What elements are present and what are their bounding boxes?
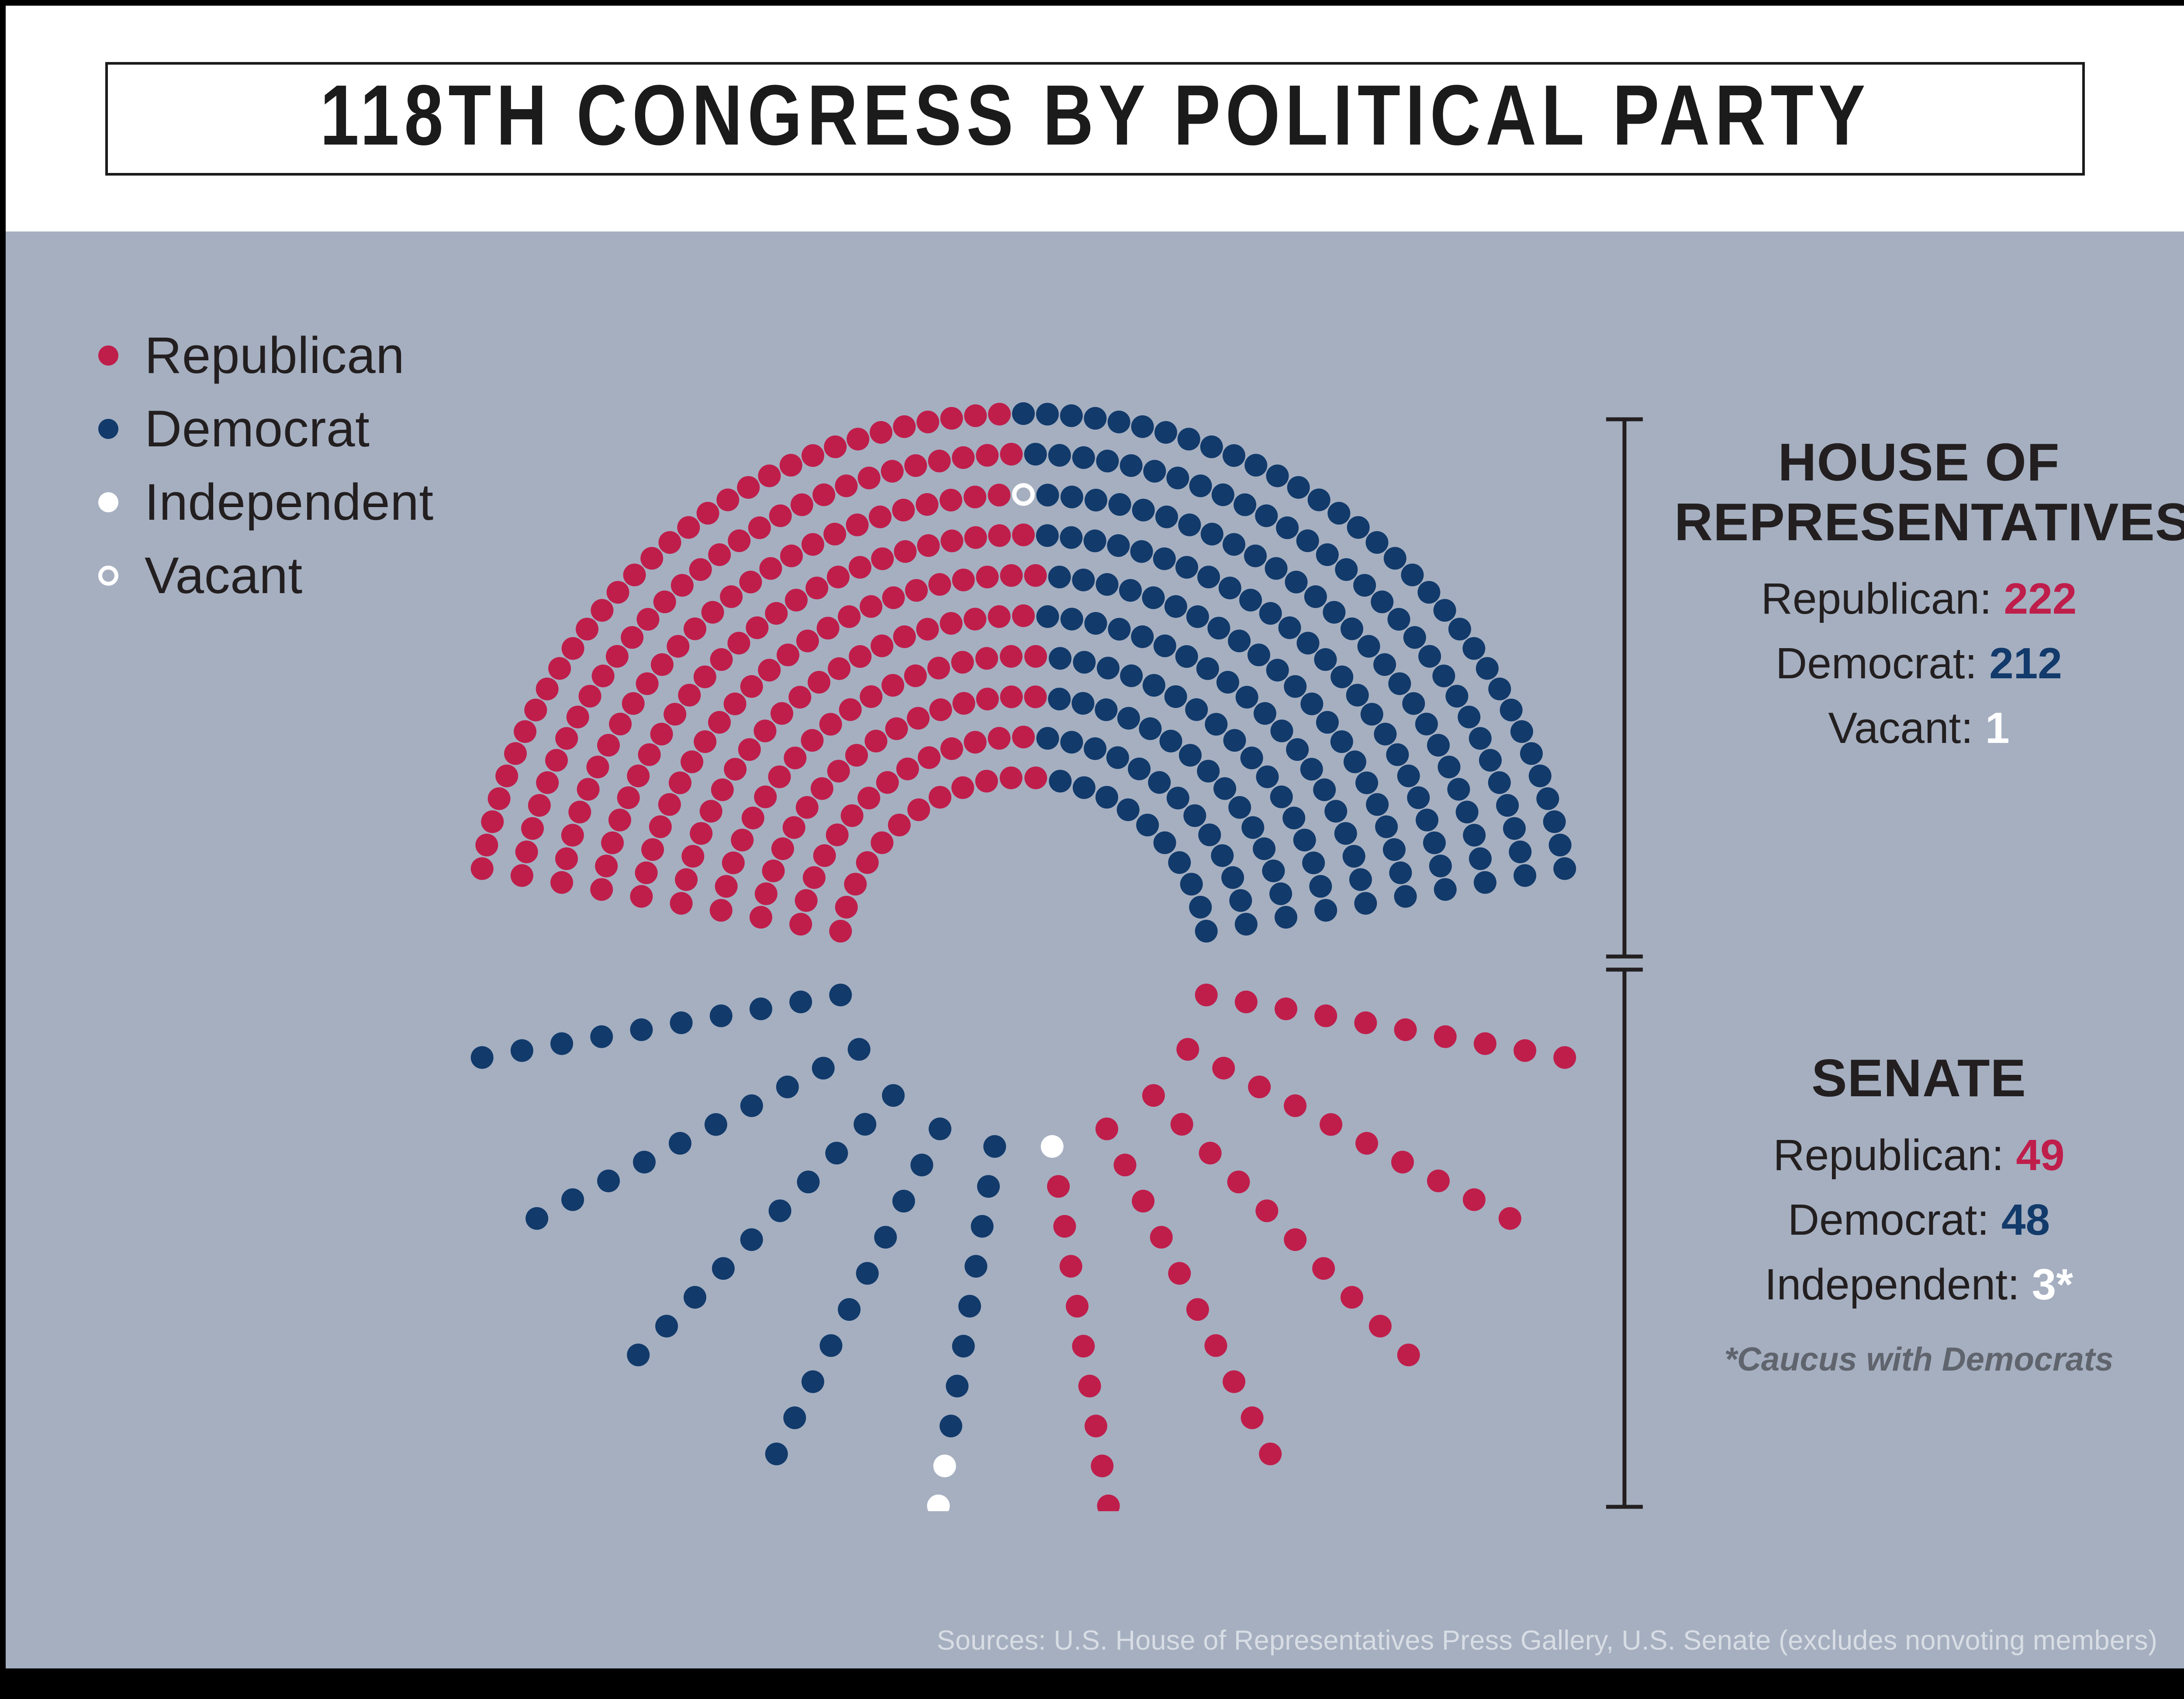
house-seat-republican [1012, 524, 1035, 546]
house-seat-republican [771, 702, 793, 725]
house-seat-republican [951, 776, 974, 799]
house-seat-republican [802, 533, 824, 556]
house-seat-democrat [1456, 801, 1479, 823]
house-seat-democrat [1239, 589, 1262, 611]
house-seat-republican [765, 602, 788, 625]
house-seat-republican [826, 824, 849, 846]
house-seat-democrat [1048, 687, 1071, 710]
house-seat-republican [789, 913, 812, 936]
house-seat-republican [579, 685, 601, 708]
house-seat-democrat [1469, 727, 1492, 750]
house-seat-republican [952, 569, 975, 591]
house-seat-democrat [1155, 505, 1178, 528]
house-seat-democrat [1334, 822, 1357, 845]
senate-seat-independent [1041, 1135, 1064, 1158]
house-seat-democrat [1520, 742, 1543, 765]
house-seat-republican [893, 625, 916, 648]
house-seat-republican [796, 629, 819, 652]
house-seat-democrat [1212, 483, 1234, 506]
house-seat-democrat [1120, 664, 1143, 687]
house-seat-republican [659, 531, 681, 554]
house-seat-democrat [1096, 573, 1119, 596]
house-seat-democrat [1148, 771, 1171, 794]
senate-seat-republican [1320, 1113, 1342, 1136]
house-seat-democrat [1223, 533, 1245, 556]
house-seat-republican [758, 659, 781, 681]
house-seat-republican [684, 618, 706, 640]
senate-seat-republican [1199, 1142, 1222, 1164]
senate-seat-republican [1085, 1415, 1107, 1437]
house-seat-republican [1024, 645, 1047, 668]
senate-seat-republican [1312, 1257, 1335, 1280]
senate-seat-republican [1355, 1132, 1378, 1155]
house-seat-republican [681, 750, 703, 773]
senate-seat-democrat [854, 1113, 876, 1136]
democrat-dot-icon [98, 419, 118, 439]
house-seat-republican [864, 730, 887, 753]
house-seat-democrat [1500, 699, 1523, 722]
house-seat-democrat [1266, 659, 1289, 681]
house-seat-democrat [1269, 882, 1292, 905]
house-seat-republican [1024, 686, 1047, 708]
house-seat-democrat [1143, 674, 1165, 697]
house-seat-republican [607, 581, 629, 604]
house-seat-republican [748, 516, 771, 539]
house-seat-republican [811, 777, 833, 800]
house-seat-democrat [1509, 840, 1531, 863]
house-seat-democrat [1343, 845, 1365, 867]
house-seat-republican [702, 601, 724, 624]
house-seat-democrat [1165, 595, 1187, 618]
house-seat-republican [630, 885, 653, 908]
house-seat-republican [856, 851, 879, 874]
house-seat-democrat [1095, 786, 1118, 808]
house-seat-republican [988, 524, 1011, 547]
house-seat-republican [708, 711, 731, 734]
house-seat-republican [658, 793, 681, 816]
house-seat-democrat [1253, 837, 1275, 860]
senate-seat-democrat [712, 1257, 735, 1280]
house-seat-republican [524, 699, 547, 722]
house-seat-republican [724, 693, 746, 715]
house-stat-democrat-value: 212 [1989, 639, 2062, 688]
house-seat-republican [964, 404, 987, 427]
house-seat-republican [1024, 564, 1047, 587]
senate-seat-republican [1053, 1215, 1076, 1238]
senate-seat-democrat [769, 1199, 791, 1222]
house-seat-republican [976, 444, 999, 467]
house-seat-democrat [1330, 730, 1353, 753]
senate-seat-democrat [630, 1019, 653, 1041]
house-seat-democrat [1304, 585, 1327, 608]
house-seat-democrat [1060, 404, 1083, 427]
house-seat-democrat [1302, 852, 1325, 874]
senate-seat-republican [1066, 1295, 1089, 1318]
house-seat-republican [964, 526, 987, 549]
house-seat-democrat [1198, 824, 1221, 846]
senate-seat-democrat [740, 1095, 763, 1117]
house-seat-democrat [1073, 651, 1095, 673]
house-seat-republican [595, 855, 618, 877]
senate-seat-republican [1463, 1188, 1486, 1211]
house-seat-democrat [1344, 750, 1366, 773]
house-seat-republican [827, 760, 850, 783]
house-seat-republican [769, 504, 792, 527]
legend-item-republican: Republican [98, 319, 434, 392]
house-seat-republican [1000, 686, 1023, 708]
house-seat-republican [708, 543, 731, 566]
house-seat-republican [528, 794, 551, 817]
house-seat-democrat [1300, 693, 1323, 715]
vacant-dot-outline-icon [98, 566, 118, 586]
house-seat-republican [784, 746, 806, 769]
house-seat-democrat [1201, 523, 1223, 546]
house-seat-democrat [1241, 816, 1264, 839]
house-seat-democrat [1178, 428, 1200, 450]
house-seat-democrat [1275, 906, 1297, 929]
house-seat-democrat [1084, 529, 1106, 552]
house-seat-democrat [1256, 766, 1279, 788]
senate-stat-independent: Independent: 3* [1674, 1252, 2163, 1317]
house-seat-democrat [1037, 484, 1059, 507]
house-seat-democrat [1223, 444, 1245, 467]
house-seat-republican [637, 608, 660, 631]
house-seat-democrat [1037, 605, 1059, 628]
house-seat-democrat [1297, 632, 1320, 655]
house-seat-democrat [1389, 861, 1412, 884]
senate-seat-democrat [946, 1375, 968, 1398]
house-seat-republican [576, 618, 598, 640]
house-stat-vacant-label: Vacant: [1828, 704, 1973, 753]
house-seat-democrat [1189, 474, 1212, 497]
senate-seat-republican [1060, 1255, 1082, 1278]
house-seat-democrat [1418, 645, 1441, 668]
house-seat-democrat [1143, 460, 1166, 483]
house-seat-democrat [1186, 605, 1209, 628]
house-seat-democrat [1244, 454, 1267, 477]
senate-seat-democrat [511, 1039, 533, 1062]
house-seat-republican [857, 787, 880, 809]
senate-seat-republican [1314, 1005, 1337, 1027]
house-seat-republican [812, 483, 835, 506]
house-seat-republican [754, 786, 777, 808]
house-seat-democrat [1279, 616, 1301, 639]
house-seat-republican [678, 684, 701, 707]
house-seat-democrat [1189, 896, 1212, 919]
house-seat-democrat [1514, 864, 1536, 887]
house-seat-democrat [1117, 798, 1140, 821]
house-seat-republican [876, 771, 899, 794]
house-seat-republican [777, 644, 799, 666]
house-seat-democrat [1287, 476, 1310, 499]
house-seat-republican [759, 557, 782, 580]
house-seat-republican [927, 657, 950, 680]
house-seat-republican [1012, 604, 1035, 627]
house-seat-republican [663, 703, 686, 725]
house-seat-democrat [1221, 866, 1244, 889]
senate-seat-republican [1097, 1495, 1120, 1511]
house-seat-democrat [1049, 770, 1071, 792]
house-seat-republican [783, 816, 805, 839]
house-chamber-title: HOUSE OF REPRESENTATIVES [1674, 432, 2163, 552]
house-seat-democrat [1061, 608, 1083, 631]
senate-stat-republican: Republican: 49 [1674, 1123, 2163, 1188]
house-seat-democrat [1271, 720, 1293, 742]
house-seat-republican [536, 771, 559, 794]
house-seat-republican [835, 896, 858, 919]
house-seat-republican [567, 706, 589, 729]
senate-seat-republican [1391, 1151, 1414, 1174]
house-seat-democrat [1327, 502, 1350, 525]
house-seat-republican [471, 857, 494, 880]
house-seat-democrat [1142, 587, 1165, 609]
house-seat-democrat [1139, 717, 1161, 740]
house-seat-democrat [1195, 920, 1218, 943]
republican-dot-icon [98, 345, 118, 366]
house-seat-republican [649, 815, 672, 838]
house-seat-republican [953, 692, 975, 715]
house-seat-republican [827, 566, 850, 588]
house-seat-republican [606, 645, 629, 668]
house-seat-republican [710, 899, 733, 922]
senate-seat-democrat [710, 1005, 733, 1027]
house-seat-democrat [1458, 706, 1480, 729]
house-seat-democrat [1211, 844, 1234, 867]
senate-seat-democrat [856, 1262, 879, 1285]
house-seat-republican [640, 547, 663, 570]
house-seat-republican [871, 831, 893, 854]
house-seat-republican [1000, 645, 1023, 668]
house-title-line-1: HOUSE OF [1674, 432, 2163, 492]
house-seat-republican [838, 605, 860, 628]
house-stat-republican-label: Republican: [1761, 574, 1992, 623]
senate-seat-democrat [684, 1286, 706, 1309]
house-seat-democrat [1543, 810, 1566, 833]
house-seat-democrat [1012, 402, 1035, 425]
house-seat-republican [905, 579, 928, 602]
house-seat-democrat [1085, 489, 1107, 511]
senate-stat-republican-value: 49 [2016, 1131, 2064, 1180]
house-seat-democrat [1197, 566, 1220, 588]
senate-seat-democrat [789, 991, 812, 1013]
house-seat-democrat [1438, 756, 1460, 778]
house-seat-democrat [1462, 637, 1485, 660]
house-seat-republican [823, 523, 846, 546]
house-seat-democrat [1196, 657, 1219, 680]
senate-seat-republican [1255, 1199, 1278, 1222]
house-seat-republican [601, 832, 624, 854]
house-seat-democrat [1434, 599, 1456, 622]
house-seat-republican [514, 720, 536, 743]
house-seat-republican [940, 407, 963, 430]
house-seat-democrat [1401, 563, 1424, 586]
house-seat-democrat [1131, 415, 1154, 438]
house-seat-republican [802, 444, 824, 467]
house-seat-republican [651, 653, 674, 676]
house-seat-republican [608, 809, 631, 832]
house-seat-republican [750, 906, 772, 929]
house-seat-republican [653, 591, 676, 613]
house-seat-republican [617, 786, 640, 809]
senate-seat-democrat [882, 1084, 905, 1107]
house-seat-republican [841, 804, 864, 827]
house-seat-democrat [1503, 817, 1526, 840]
house-seat-republican [896, 757, 919, 780]
senate-seat-republican [1227, 1171, 1250, 1193]
house-seat-democrat [1309, 875, 1332, 898]
house-seat-democrat [1536, 787, 1559, 810]
senate-stat-democrat: Democrat: 48 [1674, 1188, 2163, 1252]
house-seat-democrat [1060, 526, 1082, 549]
house-seat-republican [894, 540, 916, 563]
house-seat-republican [847, 428, 869, 450]
senate-chamber-title: SENATE [1674, 1048, 2163, 1108]
house-seat-democrat [1427, 734, 1450, 756]
house-seat-democrat [1479, 749, 1502, 772]
house-seat-democrat [1244, 545, 1267, 567]
house-seat-democrat [1296, 529, 1319, 552]
house-seat-democrat [1154, 421, 1177, 444]
page-title: 118TH CONGRESS BY POLITICAL PARTY [320, 73, 1870, 158]
house-seat-republican [622, 692, 645, 715]
senate-seat-democrat [597, 1170, 620, 1192]
house-seat-republican [675, 868, 698, 891]
house-seat-democrat [1388, 672, 1411, 695]
house-seat-democrat [1276, 516, 1299, 539]
senate-seat-republican [1195, 984, 1218, 1006]
house-seat-democrat [1167, 787, 1189, 809]
house-seat-democrat [1434, 878, 1457, 901]
house-seat-republican [916, 618, 939, 641]
senate-seat-democrat [977, 1175, 1000, 1198]
senate-seat-republican [1223, 1370, 1245, 1393]
house-seat-republican [591, 599, 613, 622]
house-seat-democrat [1207, 617, 1230, 639]
house-seat-democrat [1085, 612, 1107, 635]
house-seat-democrat [1469, 847, 1492, 870]
house-seat-republican [548, 657, 571, 680]
house-seat-democrat [1048, 566, 1071, 588]
house-seat-republican [700, 800, 722, 822]
house-seat-republican [916, 493, 938, 516]
house-seat-republican [638, 743, 661, 766]
house-seat-republican [785, 589, 808, 611]
house-seat-democrat [1084, 407, 1106, 430]
house-seat-republican [681, 845, 704, 867]
senate-seat-republican [1095, 1118, 1118, 1140]
house-seat-republican [952, 446, 975, 469]
house-seat-republican [555, 847, 578, 870]
senate-seat-democrat [633, 1151, 656, 1174]
house-seat-democrat [1387, 608, 1410, 631]
house-seat-republican [697, 502, 719, 525]
house-seat-democrat [1179, 744, 1202, 767]
senate-stat-republican-label: Republican: [1773, 1131, 2004, 1180]
house-seat-democrat [1347, 516, 1370, 539]
house-seat-democrat [1448, 618, 1471, 640]
senate-seat-democrat [561, 1188, 584, 1211]
senate-seat-democrat [829, 984, 852, 1006]
house-seat-republican [813, 844, 836, 867]
legend-label-republican: Republican [145, 326, 404, 385]
senate-seat-democrat [838, 1298, 860, 1321]
house-seat-democrat [1402, 692, 1425, 715]
house-seat-republican [829, 920, 852, 943]
house-seat-republican [621, 626, 643, 649]
house-seat-democrat [1061, 486, 1083, 508]
house-seat-democrat [1463, 824, 1486, 846]
house-seat-republican [885, 717, 908, 740]
title-box: 118TH CONGRESS BY POLITICAL PARTY [105, 62, 2085, 176]
house-seat-democrat [1119, 579, 1142, 602]
house-seat-democrat [1106, 746, 1129, 769]
house-seat-democrat [1488, 771, 1511, 794]
house-seat-republican [860, 595, 882, 618]
senate-seat-republican [1132, 1190, 1154, 1212]
house-seat-democrat [1049, 647, 1071, 670]
senate-seat-republican [1114, 1153, 1137, 1176]
house-seat-democrat [1072, 569, 1095, 591]
senate-seat-democrat [750, 998, 772, 1020]
house-seat-democrat [1235, 913, 1258, 936]
senate-seat-republican [1474, 1032, 1496, 1055]
house-seat-democrat [1073, 776, 1095, 799]
house-seat-republican [796, 796, 819, 819]
house-seat-republican [839, 698, 862, 721]
house-seat-republican [481, 810, 504, 833]
house-seat-republican [870, 421, 892, 444]
house-seat-democrat [1474, 871, 1496, 894]
senate-seat-republican [1427, 1170, 1450, 1192]
house-seat-republican [636, 672, 659, 695]
house-seat-republican [795, 889, 818, 912]
legend-item-independent: Independent [98, 466, 434, 539]
senate-seat-republican [1275, 998, 1297, 1020]
house-seat-republican [940, 612, 962, 635]
house-seat-republican [881, 674, 904, 697]
source-note: Sources: U.S. House of Representatives P… [937, 1625, 2157, 1656]
senate-seat-independent [927, 1495, 950, 1511]
senate-seat-democrat [670, 1012, 693, 1034]
house-seat-republican [536, 677, 559, 700]
house-seat-democrat [1036, 403, 1059, 425]
house-seat-democrat [1416, 809, 1438, 832]
house-seat-republican [545, 749, 568, 772]
house-seat-democrat [1175, 645, 1198, 668]
house-seat-republican [716, 488, 739, 511]
house-seat-republican [568, 801, 591, 823]
house-seat-republican [928, 573, 951, 596]
house-seat-democrat [1476, 657, 1499, 680]
house-seat-republican [667, 635, 689, 658]
house-seat-democrat [1384, 547, 1406, 570]
house-seat-democrat [1403, 626, 1426, 649]
house-seat-republican [929, 786, 951, 808]
house-seat-democrat [1108, 411, 1130, 433]
senate-seat-republican [1553, 1046, 1576, 1069]
house-summary-panel: HOUSE OF REPRESENTATIVES Republican: 222… [1674, 432, 2163, 760]
house-seat-democrat [1383, 838, 1406, 861]
house-seat-democrat [1213, 777, 1236, 800]
house-seat-democrat [1341, 618, 1363, 640]
senate-seat-republican [1078, 1375, 1101, 1398]
house-seat-republican [627, 764, 650, 787]
house-seat-democrat [1445, 685, 1468, 708]
house-seat-republican [801, 729, 823, 752]
house-seat-democrat [1373, 653, 1396, 676]
house-seat-democrat [1324, 800, 1347, 822]
senate-seat-democrat [952, 1335, 975, 1357]
